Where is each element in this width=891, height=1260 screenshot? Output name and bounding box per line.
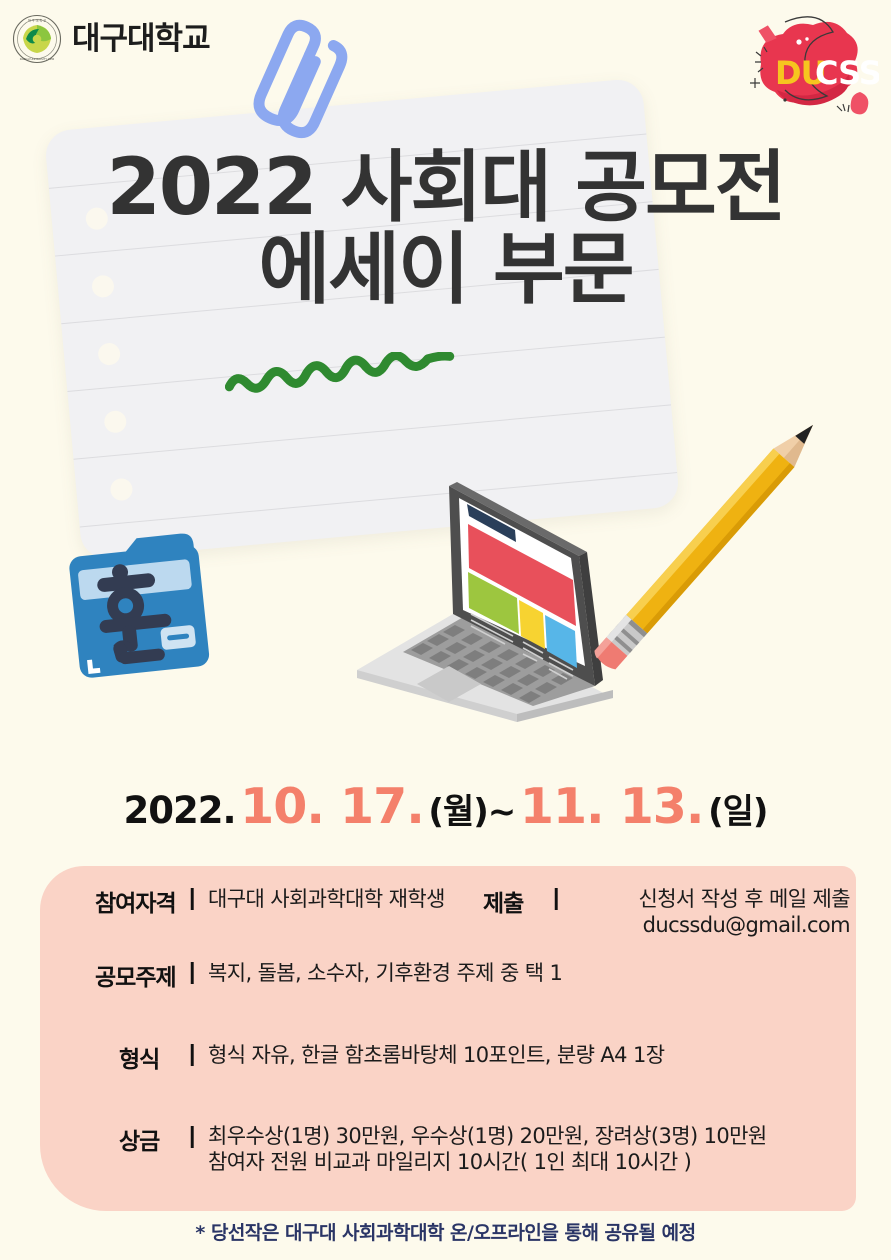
university-logo: 대 구 대 학 교 DAEGU UNIVERSITY 1956 대구대학교 <box>12 14 210 64</box>
info-value-eligibility: 대구대 사회과학대학 재학생 <box>208 887 445 913</box>
university-seal-icon: 대 구 대 학 교 DAEGU UNIVERSITY 1956 <box>12 14 62 64</box>
page-title: 2022 사회대 공모전 에세이 부문 <box>0 148 891 311</box>
info-label-submission: 제출 <box>483 884 523 918</box>
svg-text:대 구 대 학 교: 대 구 대 학 교 <box>28 17 46 22</box>
info-value-format: 형식 자유, 한글 함초롬바탕체 10포인트, 분량 A4 1장 <box>208 1043 664 1069</box>
event-date: 2022. 10. 17. (월)~ 11. 13. (일) <box>0 778 891 835</box>
ducss-css-text: CSS <box>815 54 879 92</box>
info-label-format: 형식 <box>119 1040 159 1074</box>
svg-text:DAEGU UNIVERSITY 1956: DAEGU UNIVERSITY 1956 <box>20 57 55 61</box>
info-value-topic: 복지, 돌봄, 소수자, 기후환경 주제 중 택 1 <box>208 961 562 987</box>
title-line-2: 에세이 부문 <box>0 230 891 310</box>
submission-email[interactable]: ducssdu@gmail.com <box>643 913 850 937</box>
info-separator-format: | <box>189 1040 195 1067</box>
date-year: 2022. <box>124 789 236 832</box>
prize-mileage: 참여자 전원 비교과 마일리지 10시간( 1인 최대 10시간 ) <box>208 1150 691 1174</box>
date-start-dow: (월)~ <box>428 792 515 832</box>
info-panel: 참여자격 | 대구대 사회과학대학 재학생 제출 | 신청서 작성 후 메일 제… <box>40 866 856 1211</box>
info-separator-eligibility: | <box>189 884 195 911</box>
date-end: 11. 13. <box>520 778 704 835</box>
info-label-eligibility: 참여자격 <box>95 884 176 918</box>
info-separator-prize: | <box>189 1122 195 1149</box>
title-line-1: 2022 사회대 공모전 <box>0 148 891 228</box>
green-squiggle-underline <box>225 352 490 398</box>
info-label-topic: 공모주제 <box>95 958 176 992</box>
date-end-dow: (일) <box>708 792 767 832</box>
ducss-logo: DU CSS <box>739 6 879 126</box>
university-name: 대구대학교 <box>72 24 210 55</box>
pencil-illustration <box>545 372 865 722</box>
info-value-prize: 최우수상(1명) 30만원, 우수상(1명) 20만원, 장려상(3명) 10만… <box>208 1124 767 1175</box>
paperclip-icon <box>237 18 357 148</box>
footnote: * 당선작은 대구대 사회과학대학 온/오프라인을 통해 공유될 예정 <box>0 1218 891 1245</box>
info-label-prize: 상금 <box>119 1122 159 1156</box>
prize-amounts: 최우수상(1명) 30만원, 우수상(1명) 20만원, 장려상(3명) 10만… <box>208 1124 767 1148</box>
info-separator-submission: | <box>553 884 559 911</box>
hun-badge-icon <box>58 524 228 694</box>
info-value-submission: 신청서 작성 후 메일 제출 ducssdu@gmail.com <box>580 887 850 938</box>
date-start: 10. 17. <box>240 778 424 835</box>
poster-canvas: 대 구 대 학 교 DAEGU UNIVERSITY 1956 대구대학교 DU… <box>0 0 891 1260</box>
submission-method: 신청서 작성 후 메일 제출 <box>638 887 850 911</box>
info-separator-topic: | <box>189 958 195 985</box>
